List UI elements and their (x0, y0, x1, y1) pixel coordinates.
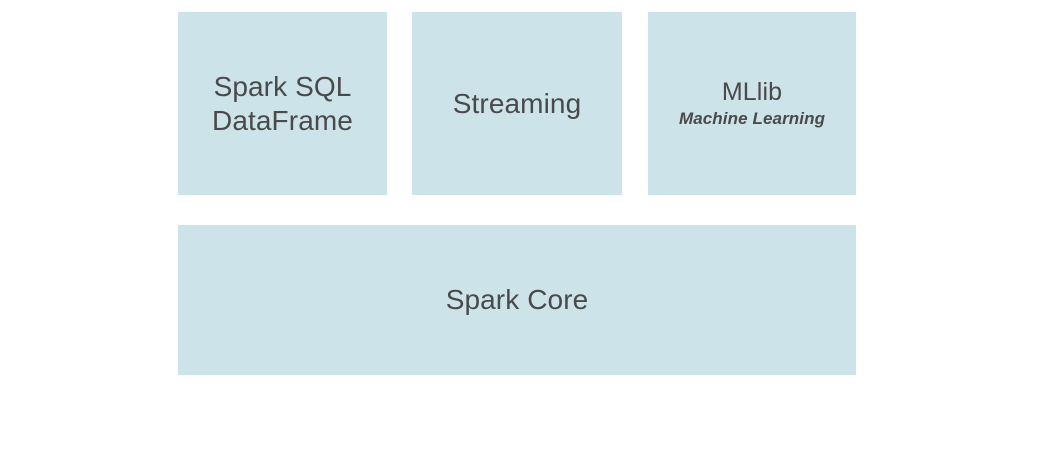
diagram-node-label-mllib: MLlib (722, 78, 782, 108)
diagram-node-label-spark-core: Spark Core (446, 283, 589, 316)
diagram-node-spark-core[interactable]: Spark Core (178, 225, 856, 375)
diagram-node-spark-sql[interactable]: Spark SQL DataFrame (178, 12, 387, 195)
diagram-node-label-spark-sql: Spark SQL DataFrame (212, 70, 353, 136)
diagram-node-label-streaming: Streaming (453, 87, 582, 120)
diagram-node-streaming[interactable]: Streaming (412, 12, 622, 195)
diagram-node-sublabel-mllib: Machine Learning (679, 109, 825, 129)
diagram-node-mllib[interactable]: MLlib Machine Learning (648, 12, 856, 195)
diagram-canvas: Spark SQL DataFrame Streaming MLlib Mach… (0, 0, 1053, 457)
